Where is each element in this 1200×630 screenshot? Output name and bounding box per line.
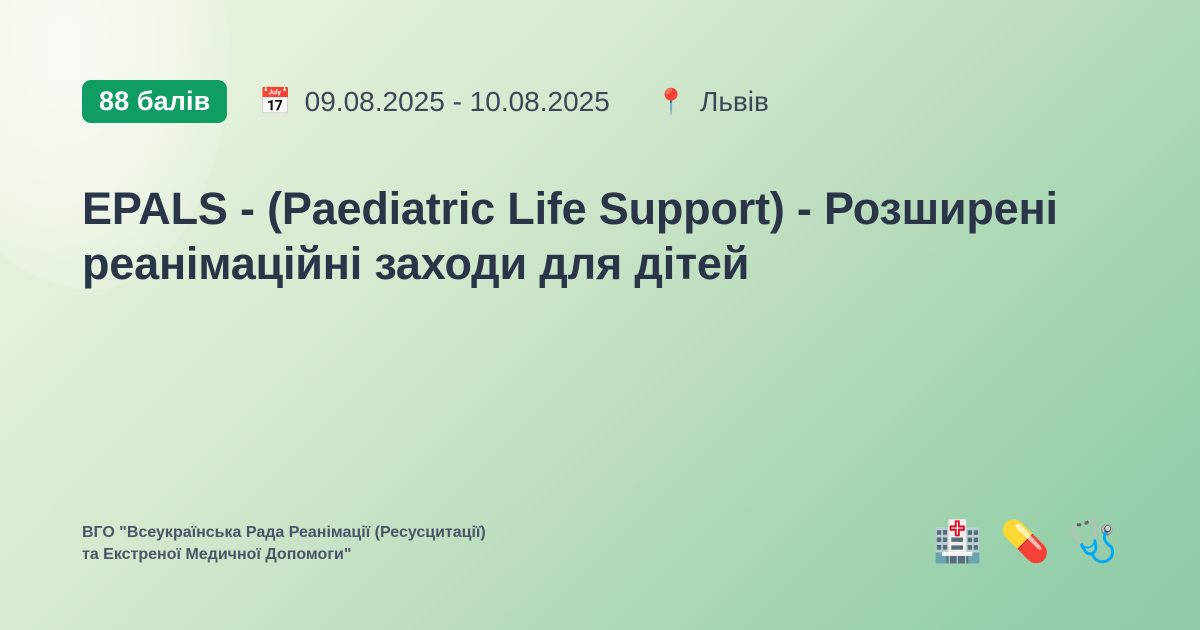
organization-line-1: ВГО "Всеукраїнська Рада Реанімації (Ресу… bbox=[82, 522, 486, 544]
event-title: EPALS - (Paediatric Life Support) - Розш… bbox=[82, 181, 1092, 291]
pill-icon: 💊 bbox=[1000, 522, 1050, 562]
footer-icon-group: 🏥 💊 🩺 bbox=[933, 522, 1118, 566]
event-card: 88 балів 📅 09.08.2025 - 10.08.2025 📍 Льв… bbox=[0, 0, 1200, 630]
organization-name: ВГО "Всеукраїнська Рада Реанімації (Ресу… bbox=[82, 522, 486, 566]
location-pin-icon: 📍 bbox=[656, 89, 687, 114]
event-location-text: Львів bbox=[700, 86, 769, 118]
calendar-icon: 📅 bbox=[259, 89, 291, 115]
card-content: 88 балів 📅 09.08.2025 - 10.08.2025 📍 Льв… bbox=[0, 0, 1200, 630]
event-location: 📍 Львів bbox=[656, 86, 769, 118]
hospital-icon: 🏥 bbox=[933, 522, 983, 562]
card-footer: ВГО "Всеукраїнська Рада Реанімації (Ресу… bbox=[82, 522, 1118, 566]
points-badge: 88 балів bbox=[82, 80, 227, 123]
stethoscope-icon: 🩺 bbox=[1068, 522, 1118, 562]
event-date: 📅 09.08.2025 - 10.08.2025 bbox=[259, 86, 610, 118]
organization-line-2: та Екстреної Медичної Допомоги" bbox=[82, 544, 486, 566]
event-date-text: 09.08.2025 - 10.08.2025 bbox=[305, 86, 610, 118]
meta-row: 88 балів 📅 09.08.2025 - 10.08.2025 📍 Льв… bbox=[82, 80, 1118, 123]
